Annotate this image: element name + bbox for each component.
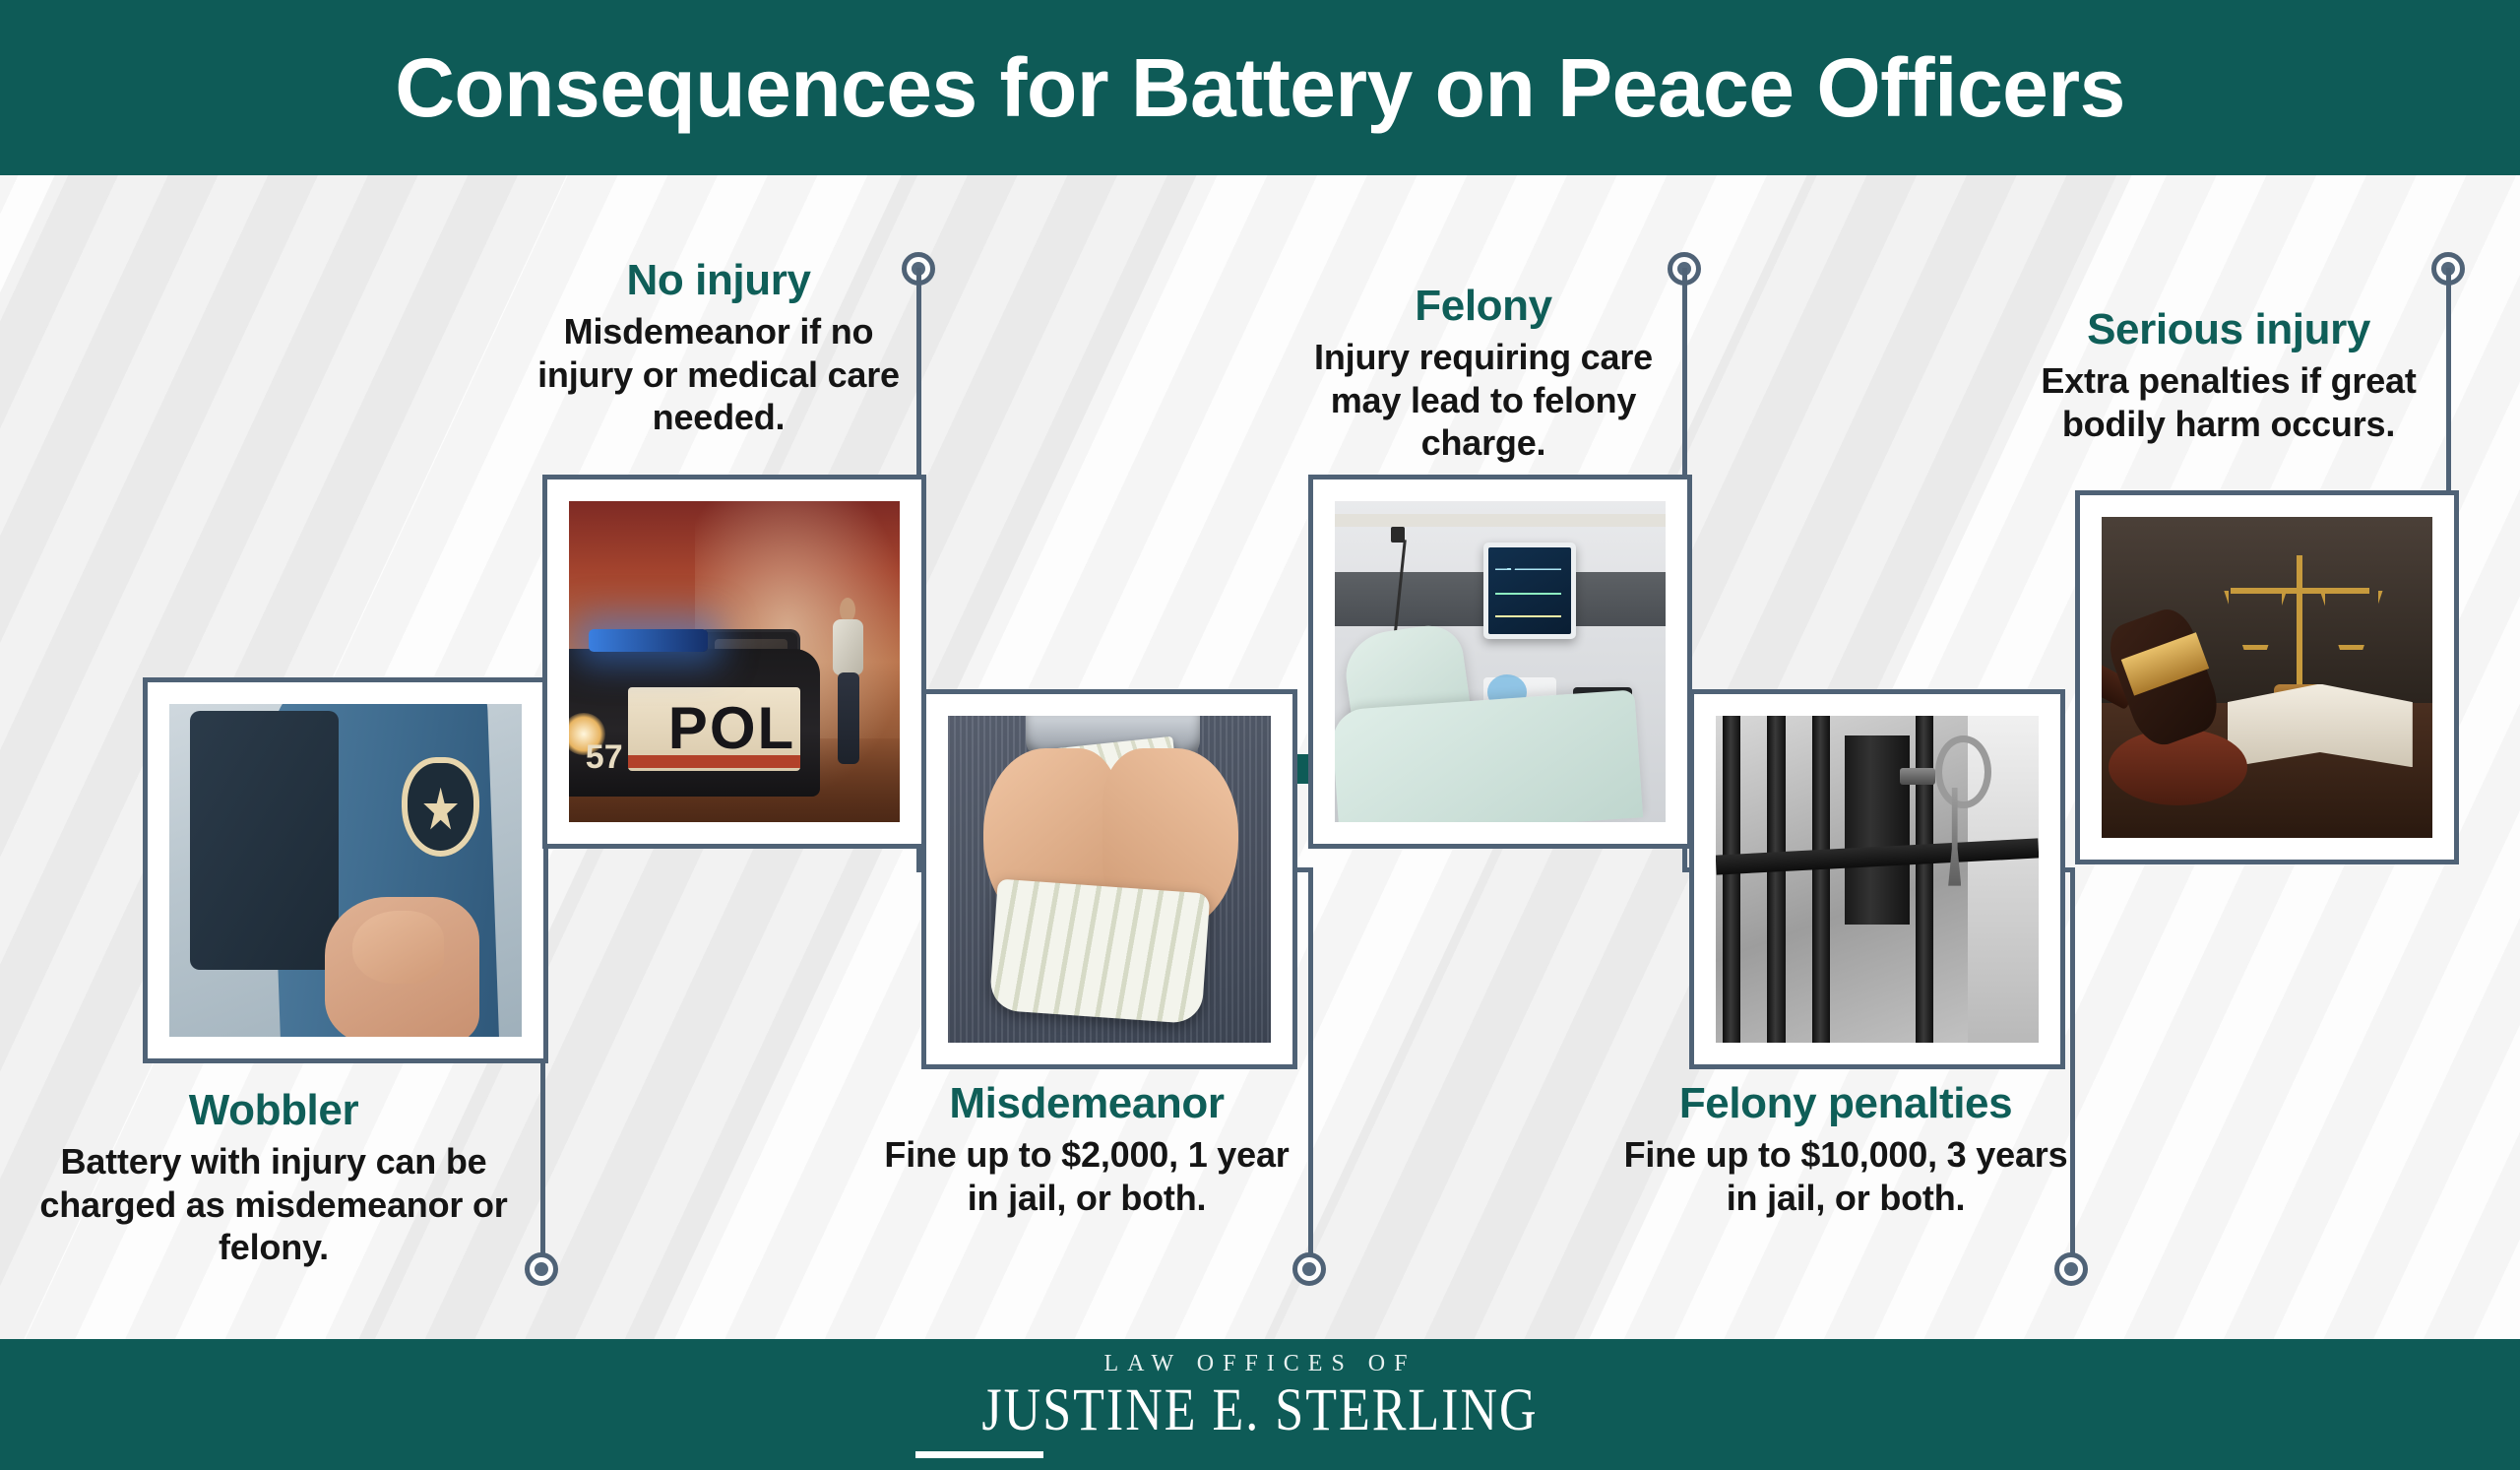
step-body-felony-penalties: Fine up to $10,000, 3 years in jail, or … [1605, 1133, 2087, 1220]
step-text-serious-injury: Serious injury Extra penalties if great … [2008, 307, 2449, 445]
page-title: Consequences for Battery on Peace Office… [395, 40, 2125, 136]
photo-card-felony [1308, 475, 1692, 849]
step-text-wobbler: Wobbler Battery with injury can be charg… [20, 1088, 528, 1269]
step-heading-felony-penalties: Felony penalties [1605, 1081, 2087, 1127]
photo-card-misdemeanor [921, 689, 1297, 1069]
police-car-at-night-photo: POL 57 [569, 501, 900, 822]
step-text-no-injury: No injury Misdemeanor if no injury or me… [512, 258, 925, 439]
handcuffed-hands-holding-money-photo [948, 716, 1271, 1043]
step-heading-felony: Felony [1282, 284, 1685, 330]
step-text-felony: Felony Injury requiring care may lead to… [1282, 284, 1685, 465]
connector-node-wobbler [525, 1252, 558, 1286]
connector-node-felony [1668, 252, 1701, 286]
header-bar: Consequences for Battery on Peace Office… [0, 0, 2520, 175]
step-body-no-injury: Misdemeanor if no injury or medical care… [512, 310, 925, 440]
step-body-misdemeanor: Fine up to $2,000, 1 year in jail, or bo… [874, 1133, 1299, 1220]
photo-card-no-injury: POL 57 [542, 475, 926, 849]
step-heading-serious-injury: Serious injury [2008, 307, 2449, 353]
footer-firm-name: JUSTINE E. STERLING [981, 1376, 1538, 1445]
photo-card-serious-injury [2075, 490, 2459, 864]
step-heading-no-injury: No injury [512, 258, 925, 304]
footer-underline [915, 1451, 1043, 1458]
step-heading-wobbler: Wobbler [20, 1088, 528, 1134]
connector-node-felony-penalties [2054, 1252, 2088, 1286]
step-body-felony: Injury requiring care may lead to felony… [1282, 336, 1685, 466]
connector-v-misdemeanor [1308, 867, 1313, 1257]
connector-node-misdemeanor [1292, 1252, 1326, 1286]
police-officer-holding-arm-photo [169, 704, 522, 1037]
footer-kicker: LAW OFFICES OF [1103, 1351, 1416, 1377]
jail-bars-with-lock-photo [1716, 716, 2039, 1043]
infographic-canvas: Consequences for Battery on Peace Office… [0, 0, 2520, 1470]
step-text-misdemeanor: Misdemeanor Fine up to $2,000, 1 year in… [874, 1081, 1299, 1219]
step-heading-misdemeanor: Misdemeanor [874, 1081, 1299, 1127]
gavel-and-scales-of-justice-photo [2102, 517, 2432, 838]
step-text-felony-penalties: Felony penalties Fine up to $10,000, 3 y… [1605, 1081, 2087, 1219]
step-body-wobbler: Battery with injury can be charged as mi… [20, 1140, 528, 1270]
footer-bar: LAW OFFICES OF JUSTINE E. STERLING [0, 1339, 2520, 1470]
photo-card-wobbler [143, 677, 548, 1063]
step-body-serious-injury: Extra penalties if great bodily harm occ… [2008, 359, 2449, 446]
connector-node-serious-injury [2431, 252, 2465, 286]
photo-card-felony-penalties [1689, 689, 2065, 1069]
hospital-bed-with-monitor-photo [1335, 501, 1666, 822]
